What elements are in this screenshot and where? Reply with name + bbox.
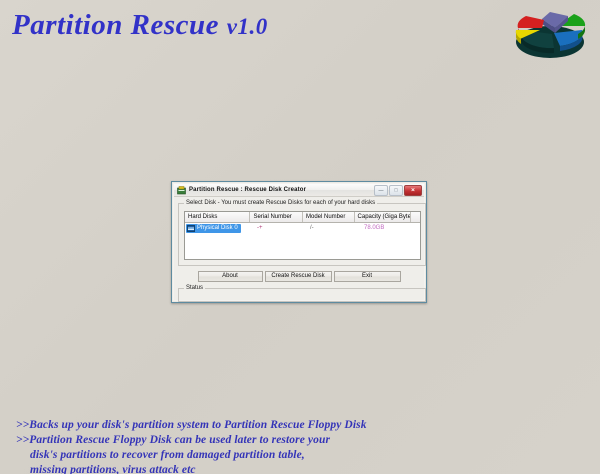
feature-list: >>Backs up your disk's partition system … [16, 418, 367, 474]
app-window-icon [177, 186, 186, 195]
app-version-text: v1.0 [227, 14, 268, 39]
window-controls: — □ ✕ [374, 185, 422, 196]
disk-name-text: Physical Disk 0 [197, 224, 238, 233]
selected-disk-chip[interactable]: Physical Disk 0 [186, 224, 241, 233]
dialog-inner-frame: Partition Rescue : Rescue Disk Creator —… [173, 183, 425, 301]
dialog-titlebar[interactable]: Partition Rescue : Rescue Disk Creator —… [174, 184, 424, 197]
create-rescue-disk-button[interactable]: Create Rescue Disk [265, 271, 332, 282]
select-disk-legend: Select Disk - You must create Rescue Dis… [184, 200, 377, 206]
feature-line-4: missing partitions, virus attack etc [16, 463, 367, 474]
feature-line-1: >>Backs up your disk's partition system … [16, 418, 367, 433]
column-header-serial-number[interactable]: Serial Number [250, 212, 303, 222]
minimize-icon: — [379, 188, 384, 193]
maximize-icon: □ [394, 188, 397, 193]
select-disk-groupbox: Select Disk - You must create Rescue Dis… [178, 203, 426, 266]
cell-capacity: 78.0GB [356, 223, 413, 233]
app-title-text: Partition Rescue [12, 9, 219, 41]
column-header-capacity[interactable]: Capacity (Giga Bytes) [355, 212, 412, 222]
hard-disk-icon [187, 225, 195, 232]
column-header-spacer [411, 212, 420, 222]
minimize-button[interactable]: — [374, 185, 388, 196]
column-header-model-number[interactable]: Model Number [303, 212, 355, 222]
feature-line-3: disk's partitions to recover from damage… [16, 448, 367, 463]
cell-hard-disk-name[interactable]: Physical Disk 0 [185, 224, 251, 233]
rescue-disk-creator-dialog: Partition Rescue : Rescue Disk Creator —… [171, 181, 427, 303]
cell-serial-number: -+ [251, 223, 304, 233]
close-button[interactable]: ✕ [404, 185, 422, 196]
app-background: Partition Rescue v1.0 [0, 0, 600, 474]
table-row[interactable]: Physical Disk 0 -+ /- 78.0GB [185, 223, 420, 233]
status-groupbox: Status [178, 288, 426, 302]
exit-button[interactable]: Exit [334, 271, 401, 282]
status-legend: Status [184, 285, 205, 291]
column-header-hard-disks[interactable]: Hard Disks [185, 212, 250, 222]
hard-disks-listview[interactable]: Hard Disks Serial Number Model Number Ca… [184, 211, 421, 260]
maximize-button[interactable]: □ [389, 185, 403, 196]
dialog-client-area: Select Disk - You must create Rescue Dis… [174, 197, 424, 300]
pie-chart-logo-icon [508, 6, 592, 62]
close-icon: ✕ [411, 188, 415, 193]
dialog-button-row: About Create Rescue Disk Exit [174, 271, 424, 282]
listview-header-row: Hard Disks Serial Number Model Number Ca… [185, 212, 420, 223]
about-button[interactable]: About [198, 271, 263, 282]
cell-model-number: /- [304, 223, 356, 233]
dialog-title-text: Partition Rescue : Rescue Disk Creator [189, 187, 306, 193]
feature-line-2: >>Partition Rescue Floppy Disk can be us… [16, 433, 367, 448]
page-title: Partition Rescue v1.0 [12, 9, 268, 42]
